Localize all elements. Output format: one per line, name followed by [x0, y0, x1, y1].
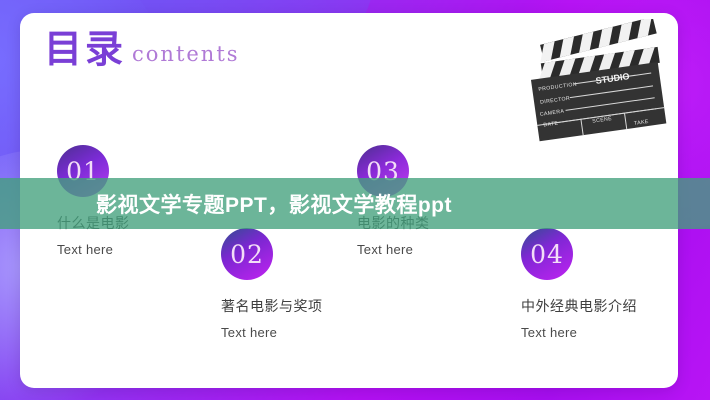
toc-item-title-04: 中外经典电影介绍	[521, 296, 678, 316]
page-title-en: contents	[132, 44, 240, 68]
toc-number-badge-02: 02	[221, 228, 273, 280]
overlay-caption-band: 影视文学专题PPT，影视文学教程ppt	[0, 178, 710, 229]
page-title: 目录 contents	[44, 30, 240, 68]
toc-item-title-02: 著名电影与奖项	[221, 296, 397, 316]
toc-number-badge-04: 04	[521, 228, 573, 280]
slide-canvas: 目录 contents	[0, 0, 710, 400]
toc-item-subtitle-04: Text here	[521, 325, 678, 340]
toc-item-subtitle-02: Text here	[221, 325, 397, 340]
toc-item-04[interactable]: 04 中外经典电影介绍 Text here	[507, 228, 678, 340]
overlay-caption-title: 影视文学专题PPT，影视文学教程ppt	[96, 189, 452, 219]
page-title-cn: 目录	[44, 30, 126, 68]
clapperboard-icon: PRODUCTION DIRECTOR CAMERA DATE SCENE TA…	[500, 19, 672, 143]
